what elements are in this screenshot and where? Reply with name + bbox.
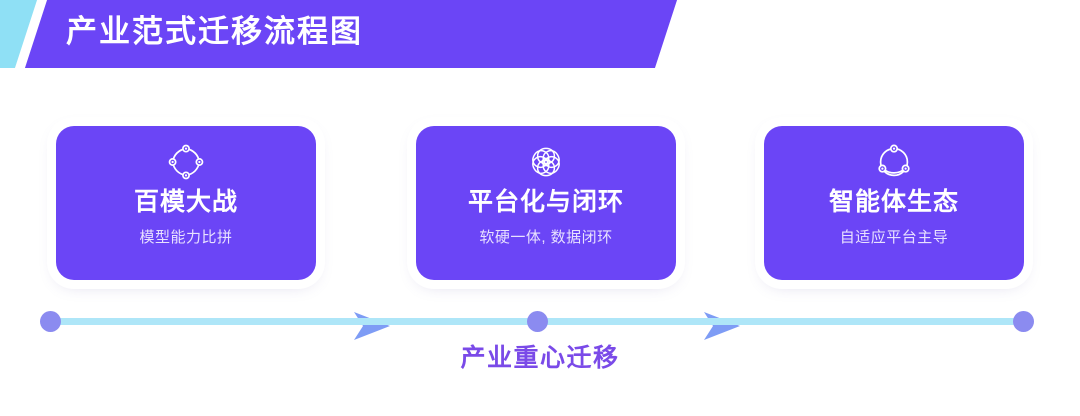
flow-card-1-subtitle: 模型能力比拼	[139, 226, 232, 247]
timeline-dot-1[interactable]	[40, 311, 61, 332]
flow-card-2[interactable]: 平台化与闭环 软硬一体, 数据闭环	[416, 126, 676, 280]
flow-card-3[interactable]: 智能体生态 自适应平台主导	[764, 126, 1024, 280]
agent-circle-icon	[874, 142, 914, 182]
network-ring-icon	[166, 142, 206, 182]
flow-card-3-title: 智能体生态	[829, 188, 959, 217]
timeline-dot-2[interactable]	[527, 311, 548, 332]
flow-card-2-title: 平台化与闭环	[468, 188, 624, 217]
timeline-caption: 产业重心迁移	[0, 338, 1080, 374]
flow-card-1-title: 百模大战	[134, 188, 238, 217]
flow-card-3-subtitle: 自适应平台主导	[840, 226, 949, 247]
page-title: 产业范式迁移流程图	[66, 0, 363, 68]
timeline-dot-3[interactable]	[1013, 311, 1034, 332]
openai-knot-icon	[526, 142, 566, 182]
flow-card-2-subtitle: 软硬一体, 数据闭环	[479, 226, 612, 247]
flow-card-1[interactable]: 百模大战 模型能力比拼	[56, 126, 316, 280]
flow-steps-row: 百模大战 模型能力比拼	[0, 118, 1080, 294]
title-banner: 产业范式迁移流程图	[0, 0, 1080, 68]
